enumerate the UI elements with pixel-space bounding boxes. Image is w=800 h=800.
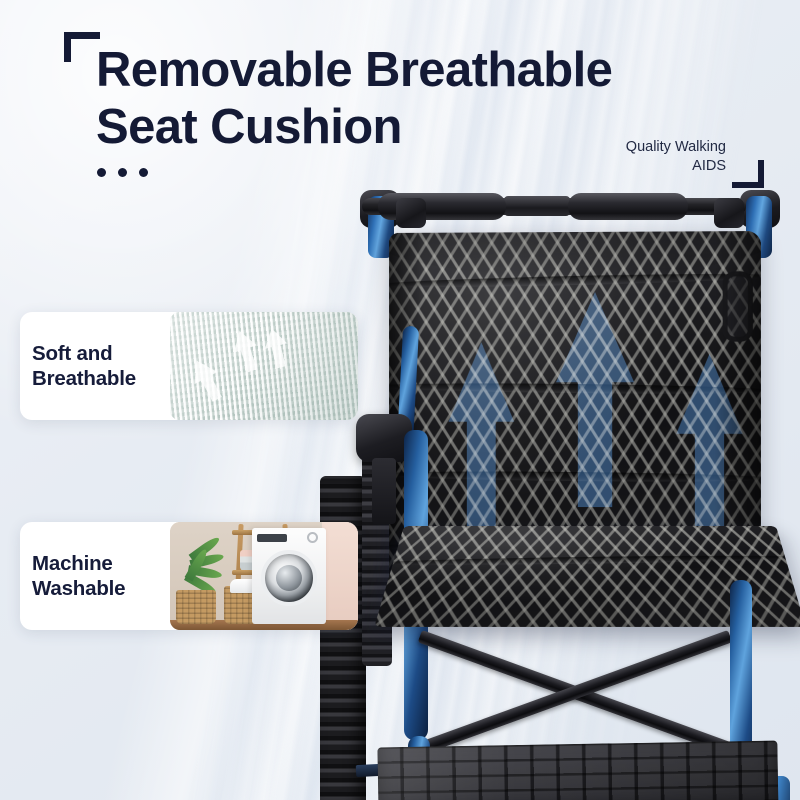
washer-door	[261, 550, 317, 606]
corner-bracket-bottom-right	[732, 160, 764, 188]
tagline-line-1: Quality Walking	[626, 138, 726, 157]
armrest-bracket	[372, 458, 396, 524]
tagline-line-2: AIDS	[626, 157, 726, 176]
page-title: Removable Breathable Seat Cushion	[96, 42, 716, 157]
frame-joint-left	[396, 198, 426, 228]
feature-card-soft-breathable: Soft and Breathable	[20, 312, 358, 420]
dot	[139, 168, 148, 177]
woven-footrest-panel	[377, 741, 778, 800]
dot	[97, 168, 106, 177]
laundry-scene	[170, 522, 358, 630]
product-poster: Removable Breathable Seat Cushion Qualit…	[0, 0, 800, 800]
washer-door-glass	[276, 565, 302, 591]
accent-wall	[322, 522, 358, 630]
corner-bracket-top-left	[64, 32, 100, 62]
laundry-room-thumbnail	[170, 522, 358, 630]
washing-machine	[252, 528, 326, 624]
feature-label: Machine Washable	[20, 522, 170, 630]
feature-label-line-2: Breathable	[32, 366, 136, 391]
handle-center-clamp	[504, 196, 570, 216]
breathable-mesh-thumbnail	[170, 312, 358, 420]
wicker-basket	[176, 590, 216, 624]
feature-label-line-1: Machine	[32, 551, 125, 576]
frame-joint-right	[714, 198, 744, 228]
brand-tagline: Quality Walking AIDS	[626, 138, 726, 176]
feature-card-machine-washable: Machine Washable	[20, 522, 358, 630]
headline-line-1: Removable Breathable	[96, 42, 716, 99]
washer-dial-knob	[307, 532, 318, 543]
feature-label-line-2: Washable	[32, 576, 125, 601]
ellipsis-dots	[97, 168, 148, 177]
feature-label: Soft and Breathable	[20, 312, 170, 420]
feature-label-line-1: Soft and	[32, 341, 136, 366]
handle-grip-right	[568, 193, 688, 220]
panel-highlight	[377, 741, 778, 800]
product-image	[300, 176, 800, 800]
headline-line-2: Seat Cushion	[96, 99, 716, 156]
washer-control-panel	[257, 534, 287, 542]
x-cross-brace	[410, 628, 740, 744]
dot	[118, 168, 127, 177]
